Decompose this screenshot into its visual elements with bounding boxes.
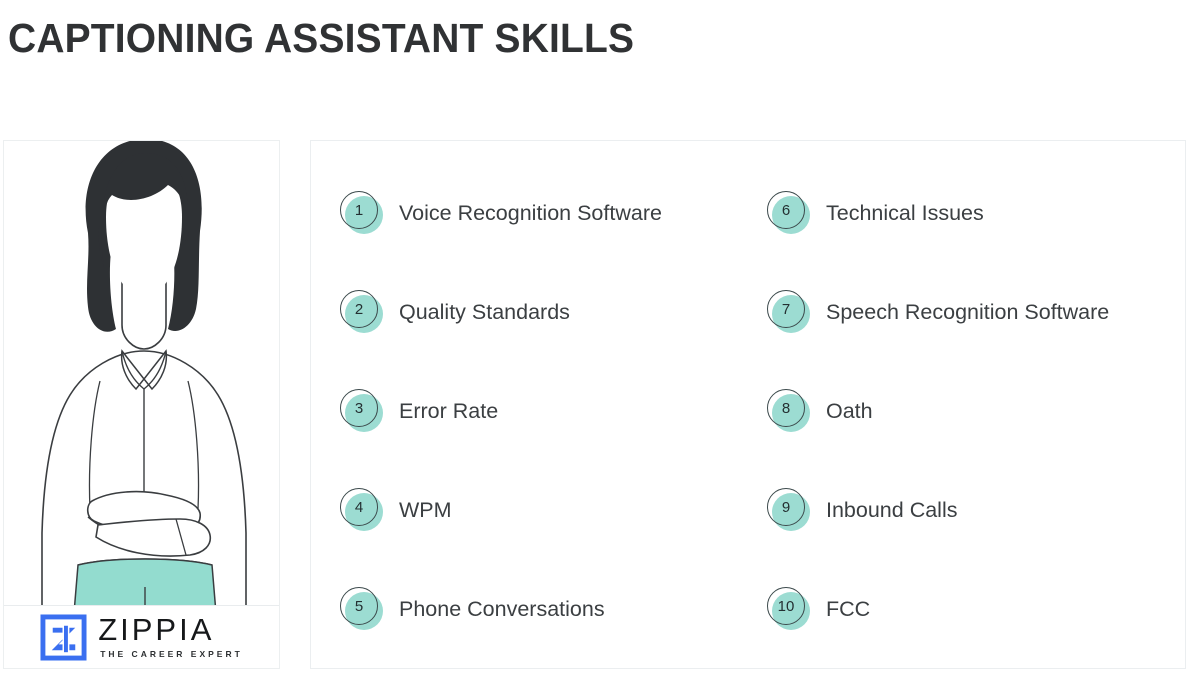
badge-outline-circle: 7 (767, 290, 805, 328)
badge-outline-circle: 1 (340, 191, 378, 229)
badge-outline-circle: 6 (767, 191, 805, 229)
skill-number: 2 (355, 302, 363, 317)
skill-number-badge: 8 (766, 388, 812, 434)
badge-outline-circle: 3 (340, 389, 378, 427)
zippia-wordblock: ZIPPIA THE CAREER EXPERT (98, 614, 243, 661)
skill-number-badge: 10 (766, 586, 812, 632)
skill-item: 3Error Rate (339, 387, 498, 435)
illustration-area (4, 141, 279, 605)
skill-label: FCC (826, 596, 870, 622)
skill-label: Error Rate (399, 398, 498, 424)
skill-number: 9 (782, 500, 790, 515)
skills-panel: 1Voice Recognition Software2Quality Stan… (310, 140, 1186, 669)
skill-item: 6Technical Issues (766, 189, 984, 237)
skill-label: Technical Issues (826, 200, 984, 226)
skill-number: 4 (355, 500, 363, 515)
skill-number-badge: 3 (339, 388, 385, 434)
skill-number: 6 (782, 203, 790, 218)
skill-number-badge: 1 (339, 190, 385, 236)
woman-arms-crossed-illustration (4, 141, 279, 605)
zippia-wordmark: ZIPPIA (98, 614, 214, 645)
skill-number: 5 (355, 599, 363, 614)
skill-number-badge: 6 (766, 190, 812, 236)
skill-number-badge: 5 (339, 586, 385, 632)
skill-number: 7 (782, 302, 790, 317)
skill-number-badge: 9 (766, 487, 812, 533)
illustration-panel: ZIPPIA THE CAREER EXPERT (3, 140, 280, 669)
infographic-page: CAPTIONING ASSISTANT SKILLS (0, 0, 1200, 675)
skill-number: 10 (778, 599, 795, 614)
badge-outline-circle: 9 (767, 488, 805, 526)
zippia-tagline: THE CAREER EXPERT (100, 647, 243, 661)
skill-item: 7Speech Recognition Software (766, 288, 1109, 336)
skill-label: Quality Standards (399, 299, 570, 325)
skills-column-left: 1Voice Recognition Software2Quality Stan… (339, 141, 759, 670)
skill-label: Phone Conversations (399, 596, 605, 622)
badge-outline-circle: 8 (767, 389, 805, 427)
zippia-logo: ZIPPIA THE CAREER EXPERT (4, 606, 279, 668)
skill-item: 9Inbound Calls (766, 486, 957, 534)
skill-item: 1Voice Recognition Software (339, 189, 662, 237)
skill-number: 8 (782, 401, 790, 416)
skill-label: Inbound Calls (826, 497, 957, 523)
badge-outline-circle: 4 (340, 488, 378, 526)
skills-column-right: 6Technical Issues7Speech Recognition Sof… (766, 141, 1176, 670)
skill-item: 4WPM (339, 486, 452, 534)
skill-label: Speech Recognition Software (826, 299, 1109, 325)
skill-number: 3 (355, 401, 363, 416)
page-title: CAPTIONING ASSISTANT SKILLS (8, 12, 634, 64)
skill-label: Oath (826, 398, 873, 424)
badge-outline-circle: 10 (767, 587, 805, 625)
badge-outline-circle: 2 (340, 290, 378, 328)
skill-item: 5Phone Conversations (339, 585, 605, 633)
skill-label: Voice Recognition Software (399, 200, 662, 226)
skill-number-badge: 4 (339, 487, 385, 533)
skill-number-badge: 2 (339, 289, 385, 335)
skill-item: 8Oath (766, 387, 873, 435)
skill-item: 2Quality Standards (339, 288, 570, 336)
skill-number: 1 (355, 203, 363, 218)
skill-label: WPM (399, 497, 452, 523)
zippia-logo-mark-icon (40, 614, 87, 661)
skill-number-badge: 7 (766, 289, 812, 335)
skill-item: 10FCC (766, 585, 870, 633)
badge-outline-circle: 5 (340, 587, 378, 625)
